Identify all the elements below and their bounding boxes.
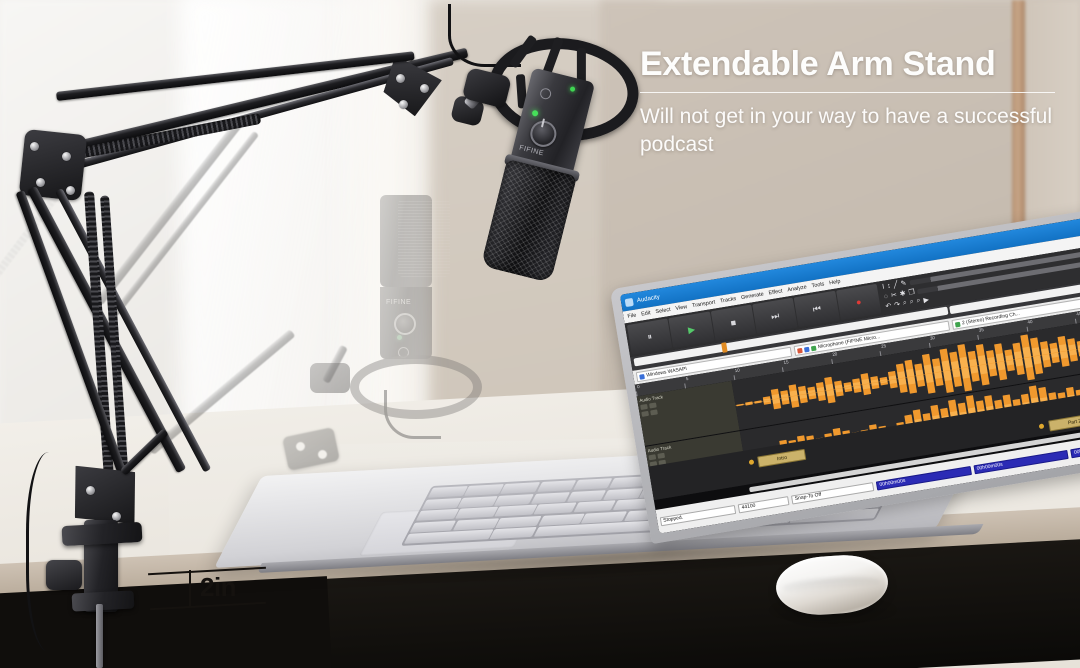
pencil-tool-icon[interactable]: ✎ <box>900 279 907 288</box>
menu-item-tools[interactable]: Tools <box>811 281 825 289</box>
zoom-tool-icon[interactable]: ◌ <box>883 293 888 301</box>
status-text: Snap-To Off <box>794 492 821 502</box>
status-selection-end[interactable]: 00h00m00s <box>973 449 1069 473</box>
play-region-icon[interactable]: ▶ <box>923 296 930 305</box>
menu-item-generate[interactable]: Generate <box>741 291 765 301</box>
laptop: Audacity – ❐ ✕ File Edit Select View Tra… <box>262 280 1052 630</box>
status-text: 00h00m00s <box>879 478 906 488</box>
solo-button-1[interactable] <box>649 402 657 408</box>
label-chip-part2[interactable]: Part 2 <box>1048 412 1080 431</box>
play-icon: ▶ <box>687 325 695 335</box>
pause-icon: ⏸ <box>647 332 653 342</box>
menu-item-analyze[interactable]: Analyze <box>787 284 807 293</box>
label-pin-icon <box>748 459 754 465</box>
ghost-mic-grille-body <box>380 195 432 287</box>
status-text: 00h00m00s <box>1074 446 1080 456</box>
status-stopped: Stopped. <box>660 504 737 525</box>
multi-tool-icon[interactable]: ✱ <box>899 289 906 298</box>
draw-tool-icon[interactable]: ╱ <box>893 280 898 289</box>
status-text: 44100 <box>741 503 756 511</box>
ruler-tick: 20 <box>832 351 838 357</box>
ruler-tick: 10 <box>734 367 740 373</box>
status-text: 00h00m00s <box>976 462 1003 472</box>
app-icon <box>625 297 634 306</box>
menu-item-tracks[interactable]: Tracks <box>720 296 737 305</box>
zoom-out-icon[interactable]: ⌕ <box>909 298 914 307</box>
ruler-tick: 15 <box>783 359 789 365</box>
record-button[interactable]: ● <box>836 284 882 320</box>
mute-button-1[interactable] <box>640 404 648 410</box>
status-rate[interactable]: 44100 <box>738 496 790 513</box>
dimension-line-vertical <box>189 570 191 607</box>
ruler-tick: 25 <box>881 343 887 349</box>
menu-item-select[interactable]: Select <box>655 307 671 315</box>
page-title: Extendable Arm Stand <box>640 46 1060 83</box>
skip-end-icon: ⏭ <box>770 311 779 321</box>
ruler-tick: 0 <box>637 384 640 389</box>
menu-item-file[interactable]: File <box>627 313 637 320</box>
dimension-label: 2in <box>200 572 236 603</box>
selection-tool-icon[interactable]: I <box>882 283 885 290</box>
ruler-tick: 35 <box>978 327 984 333</box>
undo-icon[interactable]: ↶ <box>885 302 892 311</box>
gain-slider-1[interactable] <box>641 411 649 417</box>
skip-end-button[interactable]: ⏭ <box>752 298 798 334</box>
computer-mouse[interactable] <box>774 552 890 618</box>
pan-slider-1[interactable] <box>650 409 658 415</box>
mic-cable-lower <box>26 452 83 652</box>
zoom-fit-icon[interactable]: ⌕ <box>916 297 921 306</box>
app-window-title: Audacity <box>637 294 661 304</box>
menu-item-transport[interactable]: Transport <box>692 299 716 309</box>
label-chip-text: Intro <box>777 454 788 462</box>
pause-button[interactable]: ⏸ <box>627 318 673 354</box>
menu-item-effect[interactable]: Effect <box>768 288 783 296</box>
ruler-tick: 30 <box>930 335 936 341</box>
ruler-tick: 40 <box>1027 319 1033 325</box>
menu-item-edit[interactable]: Edit <box>641 310 651 317</box>
cut-tool-icon[interactable]: ✂ <box>890 291 897 300</box>
mute-button-2[interactable] <box>649 455 657 461</box>
mic-grille <box>481 159 577 283</box>
label-pin-icon <box>1039 423 1045 429</box>
ruler-tick: 45 <box>1076 311 1080 317</box>
zoom-in-icon[interactable]: ⌕ <box>902 299 907 308</box>
menu-item-view[interactable]: View <box>675 304 688 312</box>
label-chip-intro[interactable]: Intro <box>757 449 806 468</box>
status-text: Stopped. <box>663 515 684 524</box>
envelope-tool-icon[interactable]: ↕ <box>887 282 892 289</box>
headline-block: Extendable Arm Stand Will not get in you… <box>640 46 1060 159</box>
label-chip-text: Part 2 <box>1068 418 1080 426</box>
status-selection-start[interactable]: 00h00m00s <box>876 465 972 489</box>
play-button[interactable]: ▶ <box>669 311 715 347</box>
menu-item-help[interactable]: Help <box>829 279 841 287</box>
redo-icon[interactable]: ↷ <box>894 300 901 309</box>
clamp-screw-shaft <box>96 604 103 668</box>
product-marketing-image: FIFINE <box>0 0 1080 668</box>
ruler-tick: 5 <box>686 376 689 381</box>
page-subtitle: Will not get in your way to have a succe… <box>640 103 1060 158</box>
stop-button[interactable]: ■ <box>711 305 757 341</box>
status-snap-to[interactable]: Snap-To Off <box>791 482 874 504</box>
stop-icon: ■ <box>730 318 737 328</box>
skip-start-icon: ⏮ <box>812 304 821 314</box>
headline-divider <box>640 92 1055 93</box>
skip-start-button[interactable]: ⏮ <box>794 291 840 327</box>
timeshift-tool-icon[interactable]: ❐ <box>908 288 916 297</box>
solo-button-2[interactable] <box>657 453 665 459</box>
record-icon: ● <box>855 297 862 307</box>
